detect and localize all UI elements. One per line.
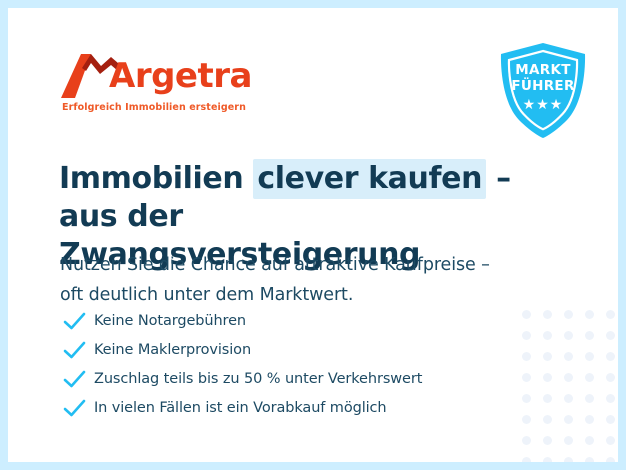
decoration-dot [585, 373, 594, 382]
ad-card: Argetra Erfolgreich Immobilien ersteiger… [8, 8, 618, 462]
logo-tagline: Erfolgreich Immobilien ersteigern [62, 102, 246, 113]
list-item-label: In vielen Fällen ist ein Vorabkauf mögli… [94, 400, 387, 416]
decoration-dot [564, 457, 573, 462]
decoration-dot [606, 352, 615, 361]
list-item: In vielen Fällen ist ein Vorabkauf mögli… [62, 393, 522, 422]
decoration-dot [522, 415, 531, 424]
decoration-dot [606, 457, 615, 462]
decoration-dot [606, 415, 615, 424]
headline-highlight: clever kaufen [253, 159, 486, 199]
decoration-dot [606, 436, 615, 445]
decoration-dot [564, 415, 573, 424]
decoration-dot [522, 352, 531, 361]
decoration-dot [564, 394, 573, 403]
check-icon [62, 398, 88, 418]
logo-wordmark: Argetra [109, 55, 252, 97]
decoration-dot [543, 310, 552, 319]
list-item: Keine Notargebühren [62, 306, 522, 335]
list-item-label: Keine Notargebühren [94, 313, 246, 329]
ad-frame: Argetra Erfolgreich Immobilien ersteiger… [0, 0, 626, 470]
decoration-dot [585, 394, 594, 403]
decoration-dot [543, 457, 552, 462]
shield-badge-icon [495, 41, 591, 141]
check-icon [62, 340, 88, 360]
decoration-dot [522, 331, 531, 340]
decoration-dot [585, 352, 594, 361]
decoration-dot [543, 436, 552, 445]
list-item-label: Zuschlag teils bis zu 50 % unter Verkehr… [94, 371, 422, 387]
decoration-dot [564, 352, 573, 361]
market-leader-badge: MARKT FÜHRER ★★★ [495, 41, 591, 141]
dot-grid-decoration [522, 310, 618, 462]
decoration-dot [522, 373, 531, 382]
headline-line1-before: Immobilien [59, 161, 253, 196]
decoration-dot [585, 436, 594, 445]
check-icon [62, 311, 88, 331]
decoration-dot [585, 457, 594, 462]
list-item: Zuschlag teils bis zu 50 % unter Verkehr… [62, 364, 522, 393]
decoration-dot [543, 415, 552, 424]
decoration-dot [564, 373, 573, 382]
decoration-dot [522, 436, 531, 445]
benefit-list: Keine Notargebühren Keine Maklerprovisio… [62, 306, 522, 422]
decoration-dot [585, 310, 594, 319]
decoration-dot [564, 310, 573, 319]
decoration-dot [564, 331, 573, 340]
subheading-line1: Nutzen Sie die Chance auf attraktive Kau… [60, 255, 490, 275]
headline-line1-after: – [486, 161, 511, 196]
decoration-dot [606, 331, 615, 340]
decoration-dot [543, 373, 552, 382]
decoration-dot [606, 394, 615, 403]
decoration-dot [543, 394, 552, 403]
subheading-line2: oft deutlich unter dem Marktwert. [60, 285, 353, 305]
decoration-dot [606, 373, 615, 382]
decoration-dot [522, 394, 531, 403]
list-item: Keine Maklerprovision [62, 335, 522, 364]
decoration-dot [585, 331, 594, 340]
decoration-dot [564, 436, 573, 445]
decoration-dot [606, 310, 615, 319]
decoration-dot [522, 310, 531, 319]
list-item-label: Keine Maklerprovision [94, 342, 251, 358]
decoration-dot [543, 331, 552, 340]
brand-logo[interactable]: Argetra Erfolgreich Immobilien ersteiger… [61, 50, 301, 100]
check-icon [62, 369, 88, 389]
decoration-dot [543, 352, 552, 361]
logo-row: Argetra [61, 50, 301, 100]
decoration-dot [522, 457, 531, 462]
subheading: Nutzen Sie die Chance auf attraktive Kau… [60, 250, 530, 310]
decoration-dot [585, 415, 594, 424]
